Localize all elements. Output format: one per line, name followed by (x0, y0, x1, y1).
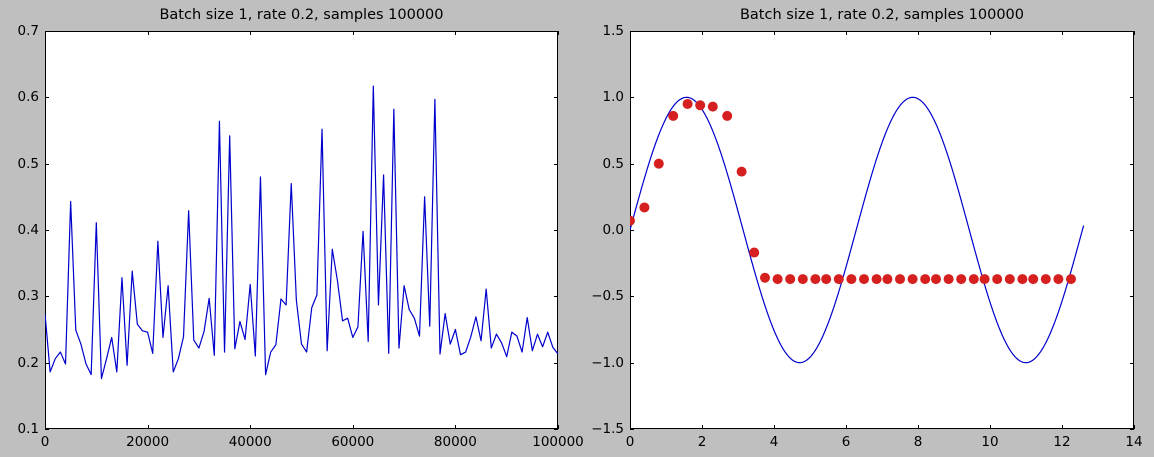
scatter-point (654, 159, 664, 169)
y-tick-label: 0.2 (18, 355, 39, 371)
x-tick-mark-top (918, 31, 919, 35)
y-tick-label: 1.5 (603, 23, 624, 39)
x-tick-mark-top (990, 31, 991, 35)
x-tick-label: 8 (914, 434, 923, 450)
x-tick-mark-top (455, 31, 456, 35)
scatter-point (1028, 274, 1038, 284)
right-subplot: Batch size 1, rate 0.2, samples 100000 0… (630, 31, 1134, 429)
scatter-point (1041, 274, 1051, 284)
y-tick-mark-right (554, 230, 558, 231)
x-tick-mark-top (353, 31, 354, 35)
y-tick-mark-right (554, 31, 558, 32)
x-tick-mark-top (774, 31, 775, 35)
scatter-point (931, 274, 941, 284)
y-tick-mark (45, 296, 49, 297)
x-tick-mark (846, 425, 847, 429)
y-tick-mark (630, 296, 634, 297)
scatter-point (695, 100, 705, 110)
x-tick-label: 4 (770, 434, 779, 450)
y-tick-label: −0.5 (591, 288, 624, 304)
left-subplot: Batch size 1, rate 0.2, samples 100000 0… (45, 31, 558, 429)
y-tick-label: 0.4 (18, 222, 39, 238)
scatter-point (980, 274, 990, 284)
scatter-point (834, 274, 844, 284)
scatter-point (749, 248, 759, 258)
right-plot-canvas (630, 31, 1134, 429)
left-plot-canvas (45, 31, 558, 429)
y-tick-mark-right (1130, 363, 1134, 364)
y-tick-mark (630, 230, 634, 231)
scatter-point (859, 274, 869, 284)
scatter-point (1053, 274, 1063, 284)
scatter-point (773, 274, 783, 284)
scatter-point (639, 202, 649, 212)
x-tick-mark-top (148, 31, 149, 35)
right-plot-title: Batch size 1, rate 0.2, samples 100000 (630, 7, 1134, 23)
scatter-point (895, 274, 905, 284)
x-tick-mark (148, 425, 149, 429)
x-tick-label: 10 (981, 434, 998, 450)
y-tick-mark-right (1130, 230, 1134, 231)
scatter-point (882, 274, 892, 284)
y-tick-label: −1.0 (591, 355, 624, 371)
y-tick-mark (630, 363, 634, 364)
scatter-point (920, 274, 930, 284)
x-tick-label: 100000 (532, 434, 584, 450)
x-tick-label: 60000 (331, 434, 374, 450)
x-tick-label: 80000 (434, 434, 477, 450)
y-tick-mark (45, 429, 49, 430)
y-tick-mark-right (1130, 31, 1134, 32)
y-tick-mark (630, 429, 634, 430)
sine-curve-path (630, 97, 1084, 362)
scatter-point (821, 274, 831, 284)
scatter-point (992, 274, 1002, 284)
scatter-point (668, 111, 678, 121)
scatter-point (846, 274, 856, 284)
scatter-point (908, 274, 918, 284)
y-tick-label: 0.3 (18, 288, 39, 304)
y-tick-label: 0.5 (603, 156, 624, 172)
x-tick-mark (774, 425, 775, 429)
x-tick-mark (1062, 425, 1063, 429)
x-tick-label: 12 (1053, 434, 1070, 450)
scatter-point (969, 274, 979, 284)
scatter-point (944, 274, 954, 284)
y-tick-label: 1.0 (603, 89, 624, 105)
scatter-point (630, 216, 635, 226)
y-tick-mark-right (554, 296, 558, 297)
y-tick-mark-right (554, 429, 558, 430)
y-tick-mark-right (1130, 97, 1134, 98)
left-plot-title: Batch size 1, rate 0.2, samples 100000 (45, 7, 558, 23)
y-tick-label: 0.6 (18, 89, 39, 105)
scatter-point (722, 111, 732, 121)
y-tick-mark-right (554, 363, 558, 364)
x-tick-label: 2 (698, 434, 707, 450)
x-tick-mark-top (1062, 31, 1063, 35)
scatter-point (683, 99, 693, 109)
scatter-point (785, 274, 795, 284)
y-tick-label: −1.5 (591, 421, 624, 437)
scatter-point (760, 273, 770, 283)
matplotlib-figure: Batch size 1, rate 0.2, samples 100000 0… (0, 0, 1154, 457)
data-line-path (45, 86, 558, 379)
scatter-point (810, 274, 820, 284)
x-tick-mark-top (702, 31, 703, 35)
x-tick-mark (558, 425, 559, 429)
y-tick-mark-right (1130, 429, 1134, 430)
scatter-point (737, 167, 747, 177)
y-tick-mark (45, 31, 49, 32)
x-tick-mark-top (250, 31, 251, 35)
scatter-point (1017, 274, 1027, 284)
y-tick-mark (45, 97, 49, 98)
x-tick-mark (702, 425, 703, 429)
scatter-point (708, 102, 718, 112)
scatter-point (956, 274, 966, 284)
y-tick-label: 0.7 (18, 23, 39, 39)
x-tick-mark (918, 425, 919, 429)
x-tick-label: 40000 (229, 434, 272, 450)
y-tick-label: 0.5 (18, 156, 39, 172)
x-tick-mark (353, 425, 354, 429)
y-tick-mark (45, 363, 49, 364)
x-tick-mark (990, 425, 991, 429)
y-tick-mark (630, 31, 634, 32)
x-tick-mark (1134, 425, 1135, 429)
x-tick-label: 14 (1125, 434, 1142, 450)
y-tick-mark-right (554, 164, 558, 165)
scatter-point (1005, 274, 1015, 284)
x-tick-label: 20000 (126, 434, 169, 450)
x-tick-label: 0 (41, 434, 50, 450)
x-tick-label: 6 (842, 434, 851, 450)
x-tick-label: 0 (626, 434, 635, 450)
y-tick-mark (45, 164, 49, 165)
x-tick-mark (455, 425, 456, 429)
y-tick-label: 0.1 (18, 421, 39, 437)
x-tick-mark-top (1134, 31, 1135, 35)
scatter-point (872, 274, 882, 284)
x-tick-mark (250, 425, 251, 429)
y-tick-mark (630, 97, 634, 98)
x-tick-mark-top (558, 31, 559, 35)
y-tick-label: 0.0 (603, 222, 624, 238)
y-tick-mark (630, 164, 634, 165)
y-tick-mark (45, 230, 49, 231)
y-tick-mark-right (1130, 164, 1134, 165)
scatter-point (1066, 274, 1076, 284)
scatter-point (798, 274, 808, 284)
y-tick-mark-right (554, 97, 558, 98)
x-tick-mark-top (846, 31, 847, 35)
y-tick-mark-right (1130, 296, 1134, 297)
